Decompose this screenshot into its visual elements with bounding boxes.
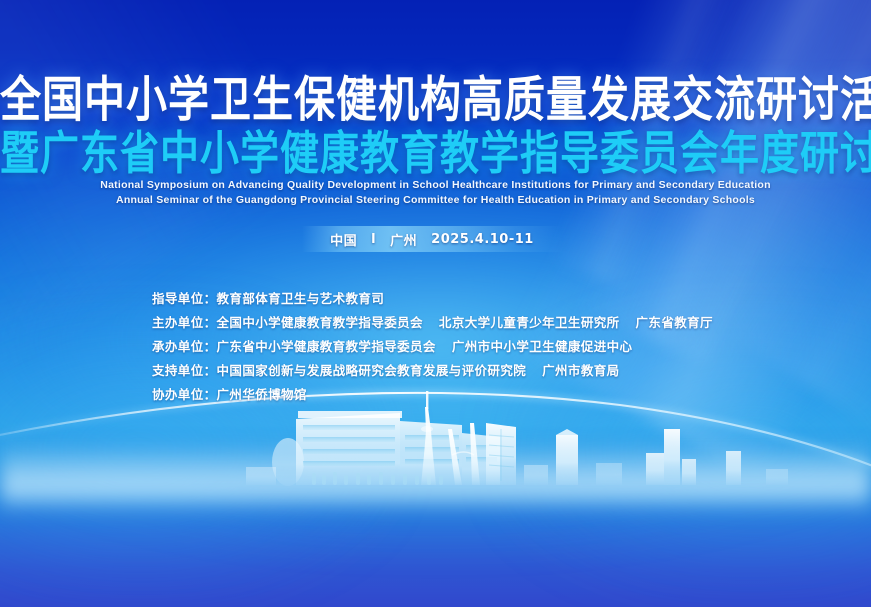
organizer-row: 协办单位： 广州华侨博物馆	[152, 384, 811, 408]
venue-dates: 2025.4.10-11	[431, 232, 534, 247]
organizer-value: 广州市教育局	[542, 360, 619, 379]
organizer-value: 广东省中小学健康教育教学指导委员会	[217, 336, 436, 355]
organizer-values: 广州华侨博物馆	[217, 384, 307, 403]
organizer-values: 教育部体育卫生与艺术教育司	[217, 288, 385, 307]
organizer-value: 教育部体育卫生与艺术教育司	[217, 288, 385, 307]
school-building	[296, 411, 500, 485]
midrise-tower	[486, 423, 516, 485]
venue-city: 广州	[390, 230, 417, 249]
venue-banner: 中国 l 广州 2025.4.10-11	[0, 226, 871, 252]
english-title-block: National Symposium on Advancing Quality …	[0, 178, 871, 208]
organizer-value: 中国国家创新与发展战略研究会教育发展与评价研究院	[217, 360, 527, 379]
organizer-value: 全国中小学健康教育教学指导委员会	[217, 312, 423, 331]
organizer-value: 广东省教育厅	[636, 312, 713, 331]
organizer-label: 主办单位：	[152, 312, 217, 331]
city-skyline	[0, 389, 871, 519]
organizer-list: 指导单位： 教育部体育卫生与艺术教育司 主办单位： 全国中小学健康教育教学指导委…	[152, 288, 811, 408]
venue-country: 中国	[330, 230, 357, 249]
organizer-label: 支持单位：	[152, 360, 217, 379]
organizer-row: 主办单位： 全国中小学健康教育教学指导委员会 北京大学儿童青少年卫生研究所 广东…	[152, 312, 811, 336]
conference-poster: 全国中小学卫生保健机构高质量发展交流研讨活动 暨广东省中小学健康教育教学指导委员…	[0, 0, 871, 607]
page-subtitle: 暨广东省中小学健康教育教学指导委员会年度研讨活动	[0, 131, 871, 177]
venue-banner-text: 中国 l 广州 2025.4.10-11	[302, 226, 562, 252]
organizer-label: 指导单位：	[152, 288, 217, 307]
organizer-value: 广州华侨博物馆	[217, 384, 307, 403]
organizer-row: 支持单位： 中国国家创新与发展战略研究会教育发展与评价研究院 广州市教育局	[152, 360, 811, 384]
organizer-value: 北京大学儿童青少年卫生研究所	[439, 312, 620, 331]
page-title: 全国中小学卫生保健机构高质量发展交流研讨活动	[0, 76, 871, 124]
english-title-line-1: National Symposium on Advancing Quality …	[0, 178, 871, 193]
organizer-row: 承办单位： 广东省中小学健康教育教学指导委员会 广州市中小学卫生健康促进中心	[152, 336, 811, 360]
organizer-values: 广东省中小学健康教育教学指导委员会 广州市中小学卫生健康促进中心	[217, 336, 633, 355]
organizer-label: 协办单位：	[152, 384, 217, 403]
organizer-values: 中国国家创新与发展战略研究会教育发展与评价研究院 广州市教育局	[217, 360, 620, 379]
organizer-label: 承办单位：	[152, 336, 217, 355]
organizer-values: 全国中小学健康教育教学指导委员会 北京大学儿童青少年卫生研究所 广东省教育厅	[217, 312, 713, 331]
organizer-row: 指导单位： 教育部体育卫生与艺术教育司	[152, 288, 811, 312]
venue-separator-icon: l	[371, 232, 376, 247]
organizer-value: 广州市中小学卫生健康促进中心	[452, 336, 633, 355]
english-title-line-2: Annual Seminar of the Guangdong Provinci…	[0, 193, 871, 208]
skyline-icon	[0, 389, 871, 519]
